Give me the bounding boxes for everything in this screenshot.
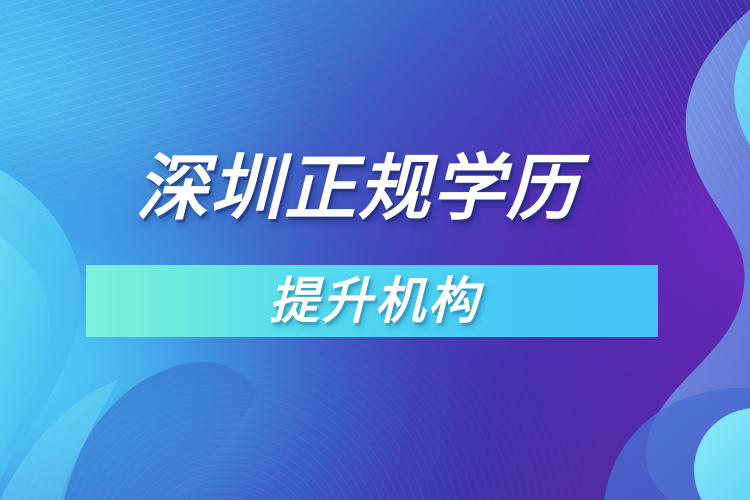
banner-headline: 深圳正规学历 (136, 152, 580, 224)
banner-subline: 提升机构 (0, 265, 750, 337)
promo-banner: 深圳正规学历 提升机构 (0, 0, 750, 500)
left-wave-group (0, 0, 750, 500)
